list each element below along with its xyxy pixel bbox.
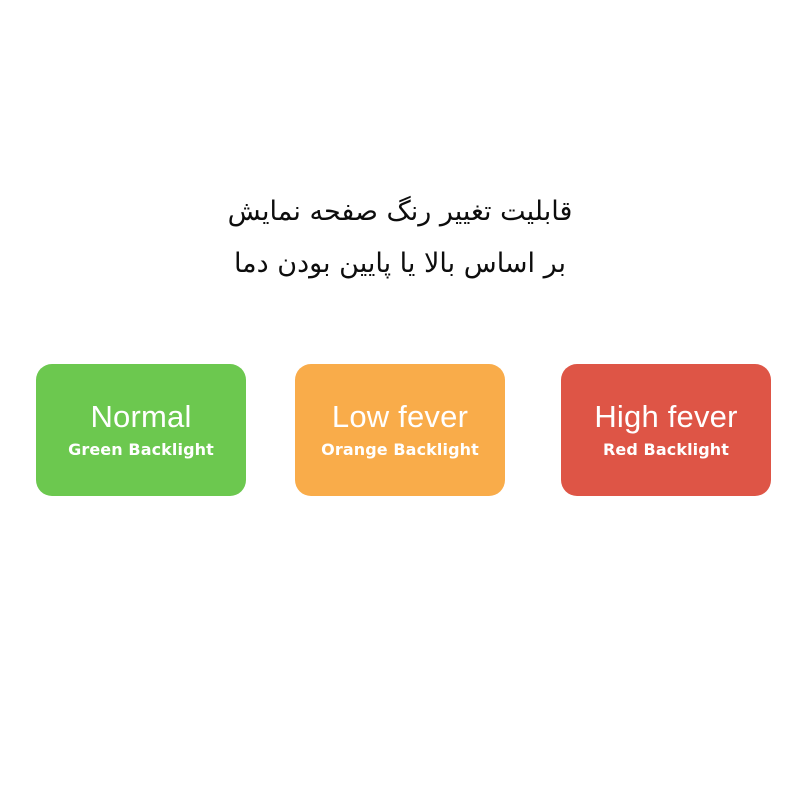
card-subtitle-low-fever: Orange Backlight [321, 440, 479, 459]
backlight-card-low-fever: Low fever Orange Backlight [295, 364, 505, 496]
card-subtitle-normal: Green Backlight [68, 440, 214, 459]
card-title-low-fever: Low fever [332, 400, 468, 434]
headline-line-2: بر اساس بالا یا پایین بودن دما [0, 238, 800, 290]
card-title-high-fever: High fever [594, 400, 737, 434]
backlight-card-normal: Normal Green Backlight [36, 364, 246, 496]
card-subtitle-high-fever: Red Backlight [603, 440, 729, 459]
infographic-canvas: قابلیت تغییر رنگ صفحه نمایش بر اساس بالا… [0, 0, 800, 800]
backlight-card-row: Normal Green Backlight Low fever Orange … [0, 358, 800, 518]
backlight-card-high-fever: High fever Red Backlight [561, 364, 771, 496]
headline-text: قابلیت تغییر رنگ صفحه نمایش بر اساس بالا… [0, 186, 800, 290]
card-title-normal: Normal [90, 400, 191, 434]
headline-line-1: قابلیت تغییر رنگ صفحه نمایش [0, 186, 800, 238]
